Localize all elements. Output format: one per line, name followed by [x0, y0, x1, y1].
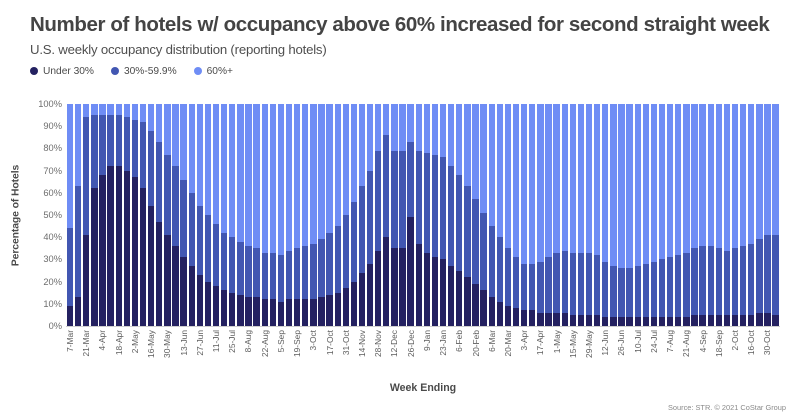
- bar-segment-30-60: [618, 268, 624, 317]
- x-axis-tick: 20-Mar: [504, 328, 512, 384]
- bar-segment-under-30: [67, 306, 73, 326]
- bar-segment-30-60: [278, 255, 284, 302]
- bar-segment-30-60: [99, 115, 105, 175]
- x-axis-tick: 30-Oct: [763, 328, 771, 384]
- bar-segment-30-60: [724, 251, 730, 315]
- bar-segment-over-60: [594, 104, 600, 255]
- bar-segment-over-60: [772, 104, 778, 235]
- bar-segment-under-30: [472, 284, 478, 326]
- x-axis-tick: 16-Oct: [747, 328, 755, 384]
- bar-segment-under-30: [375, 251, 381, 326]
- bar-column[interactable]: [723, 104, 731, 326]
- bar-column[interactable]: [261, 104, 269, 326]
- bar-segment-over-60: [529, 104, 535, 264]
- bar-segment-over-60: [302, 104, 308, 246]
- bar-segment-30-60: [318, 239, 324, 297]
- bar-column[interactable]: [763, 104, 771, 326]
- bar-segment-over-60: [659, 104, 665, 259]
- bar-segment-under-30: [407, 217, 413, 326]
- bar-column[interactable]: [504, 104, 512, 326]
- bar-column[interactable]: [398, 104, 406, 326]
- bar-segment-under-30: [545, 313, 551, 326]
- bar-segment-30-60: [545, 257, 551, 313]
- bar-column[interactable]: [731, 104, 739, 326]
- bar-column[interactable]: [577, 104, 585, 326]
- bar-segment-under-30: [618, 317, 624, 326]
- bar-segment-30-60: [213, 224, 219, 286]
- bar-segment-over-60: [132, 104, 138, 120]
- bar-segment-30-60: [343, 215, 349, 288]
- x-axis-tick: 8-Aug: [244, 328, 252, 384]
- bar-segment-30-60: [497, 237, 503, 301]
- bar-segment-over-60: [764, 104, 770, 235]
- x-axis-tick: 12-Dec: [390, 328, 398, 384]
- bar-segment-under-30: [448, 266, 454, 326]
- bar-segment-30-60: [602, 262, 608, 318]
- bar-segment-under-30: [367, 264, 373, 326]
- bar-segment-30-60: [391, 151, 397, 249]
- bar-column[interactable]: [188, 104, 196, 326]
- bar-column[interactable]: [480, 104, 488, 326]
- bar-column[interactable]: [390, 104, 398, 326]
- bar-segment-over-60: [383, 104, 389, 135]
- bar-column[interactable]: [772, 104, 780, 326]
- bar-column[interactable]: [123, 104, 131, 326]
- bar-column[interactable]: [447, 104, 455, 326]
- bar-column[interactable]: [147, 104, 155, 326]
- bar-column[interactable]: [277, 104, 285, 326]
- bar-segment-over-60: [562, 104, 568, 251]
- bar-segment-30-60: [472, 199, 478, 283]
- bar-column[interactable]: [634, 104, 642, 326]
- bar-segment-over-60: [107, 104, 113, 115]
- bar-column[interactable]: [569, 104, 577, 326]
- bar-segment-over-60: [221, 104, 227, 233]
- bar-segment-under-30: [667, 317, 673, 326]
- bar-segment-30-60: [245, 246, 251, 297]
- bar-segment-over-60: [294, 104, 300, 248]
- bar-segment-under-30: [391, 248, 397, 326]
- bar-column[interactable]: [699, 104, 707, 326]
- bar-column[interactable]: [212, 104, 220, 326]
- bar-segment-over-60: [643, 104, 649, 264]
- bar-segment-under-30: [237, 295, 243, 326]
- chart-container: Number of hotels w/ occupancy above 60% …: [0, 0, 800, 419]
- bar-segment-30-60: [375, 151, 381, 251]
- y-axis-title: Percentage of Hotels: [11, 116, 22, 316]
- bar-segment-under-30: [148, 206, 154, 326]
- bar-segment-over-60: [351, 104, 357, 202]
- bar-column[interactable]: [220, 104, 228, 326]
- bar-column[interactable]: [642, 104, 650, 326]
- bar-segment-over-60: [602, 104, 608, 262]
- bar-segment-30-60: [286, 251, 292, 300]
- bar-column[interactable]: [626, 104, 634, 326]
- bar-segment-under-30: [310, 299, 316, 326]
- bar-segment-over-60: [708, 104, 714, 246]
- bar-segment-over-60: [756, 104, 762, 239]
- bar-column[interactable]: [747, 104, 755, 326]
- bar-segment-over-60: [286, 104, 292, 251]
- y-axis-tick-label: 0%: [49, 321, 62, 331]
- bar-segment-under-30: [456, 271, 462, 327]
- x-axis-tick: 26-Jun: [617, 328, 625, 384]
- x-axis-tick: 15-May: [569, 328, 577, 384]
- bar-column[interactable]: [285, 104, 293, 326]
- bar-segment-over-60: [699, 104, 705, 246]
- bar-column[interactable]: [358, 104, 366, 326]
- bar-segment-over-60: [180, 104, 186, 179]
- bar-column[interactable]: [317, 104, 325, 326]
- x-axis-tick: 30-May: [163, 328, 171, 384]
- bar-column[interactable]: [115, 104, 123, 326]
- bar-column[interactable]: [520, 104, 528, 326]
- legend-item[interactable]: Under 30%: [30, 66, 94, 77]
- bar-segment-over-60: [213, 104, 219, 224]
- bar-segment-30-60: [172, 166, 178, 246]
- bar-segment-under-30: [270, 299, 276, 326]
- bar-segment-30-60: [643, 264, 649, 317]
- bar-column[interactable]: [107, 104, 115, 326]
- bar-segment-30-60: [197, 206, 203, 275]
- bar-column[interactable]: [715, 104, 723, 326]
- bar-segment-30-60: [699, 246, 705, 315]
- bar-segment-30-60: [521, 264, 527, 311]
- x-axis-tick: 2-May: [131, 328, 139, 384]
- x-axis-tick: 28-Nov: [374, 328, 382, 384]
- bar-segment-30-60: [221, 233, 227, 291]
- bar-segment-over-60: [407, 104, 413, 142]
- bar-segment-over-60: [278, 104, 284, 255]
- x-axis-tick: [772, 328, 780, 384]
- bar-segment-under-30: [537, 313, 543, 326]
- bar-segment-under-30: [610, 317, 616, 326]
- bar-segment-over-60: [667, 104, 673, 257]
- bar-column[interactable]: [196, 104, 204, 326]
- bar-segment-30-60: [140, 122, 146, 189]
- bar-segment-over-60: [156, 104, 162, 142]
- bar-column[interactable]: [98, 104, 106, 326]
- bar-segment-30-60: [91, 115, 97, 188]
- bar-segment-under-30: [229, 293, 235, 326]
- bar-segment-over-60: [245, 104, 251, 246]
- legend-item[interactable]: 30%-59.9%: [111, 66, 177, 77]
- bar-segment-30-60: [691, 248, 697, 315]
- bar-column[interactable]: [374, 104, 382, 326]
- y-axis-tick-label: 70%: [43, 166, 62, 176]
- bar-column[interactable]: [601, 104, 609, 326]
- x-axis-tick: 19-Sep: [293, 328, 301, 384]
- bar-segment-30-60: [489, 226, 495, 297]
- x-axis-tick: 18-Sep: [715, 328, 723, 384]
- bar-segment-over-60: [448, 104, 454, 166]
- bar-column[interactable]: [707, 104, 715, 326]
- bar-column[interactable]: [455, 104, 463, 326]
- bar-segment-under-30: [691, 315, 697, 326]
- bar-column[interactable]: [512, 104, 520, 326]
- bar-segment-under-30: [335, 293, 341, 326]
- bar-column[interactable]: [342, 104, 350, 326]
- bar-segment-30-60: [513, 257, 519, 308]
- x-axis-tick: 20-Feb: [471, 328, 479, 384]
- legend-item[interactable]: 60%+: [194, 66, 233, 77]
- y-axis-tick-label: 60%: [43, 188, 62, 198]
- bar-column[interactable]: [496, 104, 504, 326]
- bar-segment-under-30: [383, 237, 389, 326]
- bar-segment-under-30: [764, 313, 770, 326]
- x-axis-tick: 17-Apr: [536, 328, 544, 384]
- x-axis-tick: 21-Aug: [682, 328, 690, 384]
- bar-column[interactable]: [228, 104, 236, 326]
- legend-item-label: Under 30%: [43, 66, 94, 77]
- x-axis-tick: 29-May: [585, 328, 593, 384]
- bar-column[interactable]: [585, 104, 593, 326]
- bar-column[interactable]: [658, 104, 666, 326]
- bar-column[interactable]: [690, 104, 698, 326]
- bar-column[interactable]: [544, 104, 552, 326]
- bar-column[interactable]: [74, 104, 82, 326]
- bar-column[interactable]: [253, 104, 261, 326]
- bar-segment-30-60: [635, 266, 641, 317]
- y-axis-tick-label: 40%: [43, 232, 62, 242]
- bar-segment-under-30: [513, 308, 519, 326]
- bar-segment-under-30: [189, 266, 195, 326]
- bar-column[interactable]: [334, 104, 342, 326]
- bar-segment-30-60: [205, 215, 211, 282]
- bar-segment-under-30: [180, 257, 186, 326]
- bar-column[interactable]: [666, 104, 674, 326]
- bar-segment-30-60: [448, 166, 454, 266]
- bar-segment-under-30: [635, 317, 641, 326]
- bar-column[interactable]: [463, 104, 471, 326]
- bar-column[interactable]: [155, 104, 163, 326]
- bar-segment-under-30: [116, 166, 122, 326]
- bar-segment-30-60: [367, 171, 373, 264]
- x-axis-tick: 1-May: [553, 328, 561, 384]
- bar-segment-under-30: [497, 302, 503, 326]
- bar-column[interactable]: [171, 104, 179, 326]
- x-axis-title: Week Ending: [66, 382, 780, 394]
- bar-column[interactable]: [553, 104, 561, 326]
- bar-column[interactable]: [439, 104, 447, 326]
- bar-segment-over-60: [635, 104, 641, 266]
- bar-segment-under-30: [740, 315, 746, 326]
- bar-segment-under-30: [132, 177, 138, 326]
- bar-segment-under-30: [318, 297, 324, 326]
- bar-segment-30-60: [464, 186, 470, 277]
- x-axis-tick: 16-May: [147, 328, 155, 384]
- y-axis-tick-label: 50%: [43, 210, 62, 220]
- bar-segment-over-60: [675, 104, 681, 255]
- bar-segment-over-60: [537, 104, 543, 262]
- bar-segment-over-60: [124, 104, 130, 117]
- bar-segment-over-60: [513, 104, 519, 257]
- bar-column[interactable]: [561, 104, 569, 326]
- bar-segment-under-30: [480, 290, 486, 326]
- x-axis-tick: 4-Apr: [98, 328, 106, 384]
- bar-segment-30-60: [610, 266, 616, 317]
- bar-segment-30-60: [553, 253, 559, 313]
- bar-segment-over-60: [586, 104, 592, 253]
- bar-segment-over-60: [497, 104, 503, 237]
- bar-column[interactable]: [415, 104, 423, 326]
- x-axis-tick: 2-Oct: [731, 328, 739, 384]
- bar-segment-30-60: [75, 186, 81, 297]
- bar-segment-over-60: [570, 104, 576, 253]
- bar-segment-under-30: [659, 317, 665, 326]
- bar-column[interactable]: [593, 104, 601, 326]
- bar-segment-over-60: [432, 104, 438, 155]
- bar-segment-under-30: [213, 286, 219, 326]
- bar-segment-under-30: [683, 317, 689, 326]
- bar-segment-over-60: [416, 104, 422, 151]
- bar-segment-over-60: [75, 104, 81, 186]
- bar-segment-over-60: [691, 104, 697, 248]
- x-axis-tick: 10-Jul: [634, 328, 642, 384]
- x-axis-tick: 7-Mar: [66, 328, 74, 384]
- bar-segment-30-60: [748, 244, 754, 315]
- bar-segment-under-30: [489, 297, 495, 326]
- x-axis-tick: 4-Sep: [699, 328, 707, 384]
- bar-column[interactable]: [326, 104, 334, 326]
- bar-segment-over-60: [148, 104, 154, 131]
- bar-segment-over-60: [359, 104, 365, 186]
- bar-segment-30-60: [537, 262, 543, 313]
- bar-column[interactable]: [617, 104, 625, 326]
- bar-column[interactable]: [431, 104, 439, 326]
- bar-column[interactable]: [674, 104, 682, 326]
- bar-segment-under-30: [253, 297, 259, 326]
- plot-wrapper: Percentage of Hotels 0%10%20%30%40%50%60…: [0, 104, 800, 344]
- y-axis-tick-label: 100%: [38, 99, 62, 109]
- bar-column[interactable]: [180, 104, 188, 326]
- bar-column[interactable]: [609, 104, 617, 326]
- bar-segment-30-60: [407, 142, 413, 217]
- bar-segment-under-30: [594, 315, 600, 326]
- bar-column[interactable]: [244, 104, 252, 326]
- bar-segment-30-60: [529, 264, 535, 311]
- bar-segment-over-60: [270, 104, 276, 253]
- bar-column[interactable]: [163, 104, 171, 326]
- bar-column[interactable]: [650, 104, 658, 326]
- bar-segment-30-60: [107, 115, 113, 166]
- bar-column[interactable]: [536, 104, 544, 326]
- bar-column[interactable]: [269, 104, 277, 326]
- bar-segment-30-60: [180, 180, 186, 258]
- bar-segment-over-60: [521, 104, 527, 264]
- bar-segment-30-60: [683, 253, 689, 317]
- bar-column[interactable]: [488, 104, 496, 326]
- bar-column[interactable]: [739, 104, 747, 326]
- bar-segment-under-30: [140, 188, 146, 326]
- x-axis-tick: 12-Jun: [601, 328, 609, 384]
- bar-segment-under-30: [326, 295, 332, 326]
- bar-column[interactable]: [350, 104, 358, 326]
- bar-segment-30-60: [302, 246, 308, 299]
- bar-segment-over-60: [480, 104, 486, 213]
- bar-column[interactable]: [366, 104, 374, 326]
- bar-segment-over-60: [732, 104, 738, 248]
- bar-segment-under-30: [359, 273, 365, 326]
- bar-segment-30-60: [229, 237, 235, 293]
- bar-segment-under-30: [124, 171, 130, 326]
- bar-segment-30-60: [237, 242, 243, 295]
- bar-segment-30-60: [253, 248, 259, 297]
- bar-segment-30-60: [424, 153, 430, 253]
- bar-segment-30-60: [310, 244, 316, 300]
- bar-segment-under-30: [505, 306, 511, 326]
- bar-segment-30-60: [708, 246, 714, 315]
- bar-segment-under-30: [432, 257, 438, 326]
- bar-segment-30-60: [189, 193, 195, 266]
- bar-segment-under-30: [91, 188, 97, 326]
- x-axis-tick: 5-Sep: [277, 328, 285, 384]
- bar-segment-over-60: [326, 104, 332, 233]
- bar-segment-under-30: [675, 317, 681, 326]
- bar-segment-over-60: [489, 104, 495, 226]
- bar-column[interactable]: [293, 104, 301, 326]
- bar-column[interactable]: [528, 104, 536, 326]
- bar-segment-under-30: [221, 290, 227, 326]
- bar-column[interactable]: [66, 104, 74, 326]
- bar-segment-over-60: [116, 104, 122, 115]
- legend-dot-icon: [111, 67, 119, 75]
- x-axis-tick: 3-Apr: [520, 328, 528, 384]
- bar-column[interactable]: [309, 104, 317, 326]
- bar-segment-under-30: [748, 315, 754, 326]
- bar-column[interactable]: [82, 104, 90, 326]
- bar-segment-30-60: [432, 155, 438, 257]
- bar-segment-30-60: [732, 248, 738, 315]
- bar-segment-over-60: [505, 104, 511, 248]
- bar-segment-under-30: [756, 313, 762, 326]
- bar-column[interactable]: [131, 104, 139, 326]
- bar-segment-30-60: [456, 175, 462, 270]
- bar-segment-over-60: [399, 104, 405, 151]
- bar-segment-30-60: [667, 257, 673, 317]
- bar-segment-under-30: [302, 299, 308, 326]
- legend-dot-icon: [194, 67, 202, 75]
- bar-segment-under-30: [643, 317, 649, 326]
- bar-segment-30-60: [440, 157, 446, 259]
- y-axis-tick-label: 80%: [43, 143, 62, 153]
- bar-column[interactable]: [301, 104, 309, 326]
- bar-column[interactable]: [382, 104, 390, 326]
- bar-column[interactable]: [423, 104, 431, 326]
- bar-column[interactable]: [682, 104, 690, 326]
- bar-column[interactable]: [236, 104, 244, 326]
- bar-column[interactable]: [407, 104, 415, 326]
- bar-segment-over-60: [83, 104, 89, 117]
- bar-column[interactable]: [204, 104, 212, 326]
- bar-segment-30-60: [659, 259, 665, 317]
- bar-column[interactable]: [755, 104, 763, 326]
- y-axis-tick-label: 20%: [43, 277, 62, 287]
- bar-segment-over-60: [464, 104, 470, 186]
- bar-segment-30-60: [764, 235, 770, 313]
- bar-column[interactable]: [471, 104, 479, 326]
- bar-segment-over-60: [367, 104, 373, 171]
- bar-column[interactable]: [139, 104, 147, 326]
- bar-segment-over-60: [67, 104, 73, 228]
- bar-segment-30-60: [594, 255, 600, 315]
- bar-segment-over-60: [683, 104, 689, 253]
- bar-segment-over-60: [472, 104, 478, 199]
- bar-segment-under-30: [278, 302, 284, 326]
- bar-segment-over-60: [578, 104, 584, 253]
- bar-column[interactable]: [90, 104, 98, 326]
- bar-segment-under-30: [286, 299, 292, 326]
